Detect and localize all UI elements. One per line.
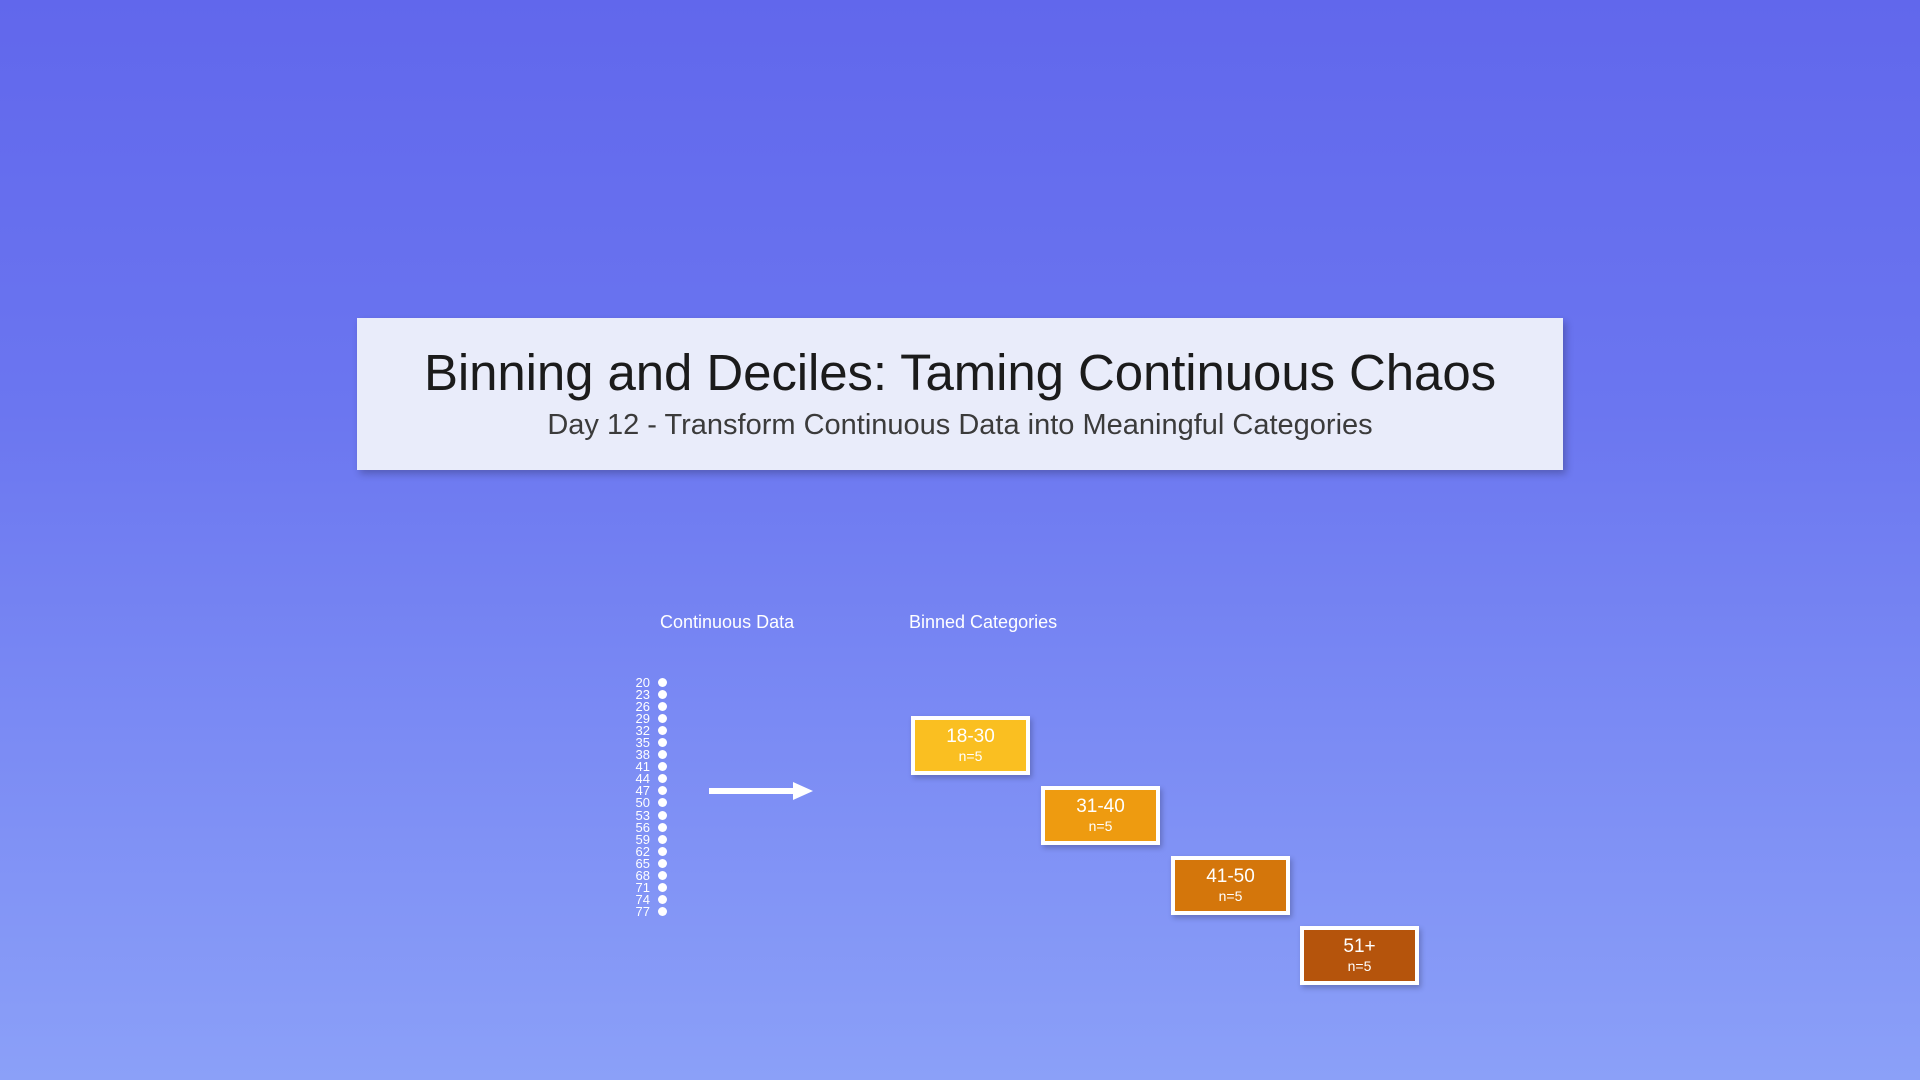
bin-box[interactable]: 41-50n=5 xyxy=(1171,856,1290,915)
data-point-dot-icon xyxy=(658,907,667,916)
continuous-value-label: 77 xyxy=(636,905,650,918)
slide-canvas: Binning and Deciles: Taming Continuous C… xyxy=(0,0,1920,1080)
bin-range-label: 51+ xyxy=(1343,937,1375,958)
transform-arrow-icon xyxy=(709,781,813,801)
data-point-dot-icon xyxy=(658,859,667,868)
data-point-dot-icon xyxy=(658,786,667,795)
continuous-data-list: 2023262932353841444750535659626568717477 xyxy=(608,676,688,918)
data-point-dot-icon xyxy=(658,750,667,759)
page-title: Binning and Deciles: Taming Continuous C… xyxy=(424,346,1496,400)
continuous-data-point: 77 xyxy=(608,906,688,918)
data-point-dot-icon xyxy=(658,871,667,880)
bin-box[interactable]: 31-40n=5 xyxy=(1041,786,1160,845)
title-card: Binning and Deciles: Taming Continuous C… xyxy=(357,318,1563,470)
bin-range-label: 18-30 xyxy=(946,727,995,748)
data-point-dot-icon xyxy=(658,762,667,771)
bin-range-label: 31-40 xyxy=(1076,797,1125,818)
continuous-data-heading: Continuous Data xyxy=(660,612,794,633)
bin-box[interactable]: 18-30n=5 xyxy=(911,716,1030,775)
data-point-dot-icon xyxy=(658,811,667,820)
data-point-dot-icon xyxy=(658,774,667,783)
data-point-dot-icon xyxy=(658,678,667,687)
data-point-dot-icon xyxy=(658,714,667,723)
data-point-dot-icon xyxy=(658,726,667,735)
binned-categories-heading: Binned Categories xyxy=(909,612,1057,633)
data-point-dot-icon xyxy=(658,847,667,856)
data-point-dot-icon xyxy=(658,835,667,844)
data-point-dot-icon xyxy=(658,798,667,807)
data-point-dot-icon xyxy=(658,823,667,832)
page-subtitle: Day 12 - Transform Continuous Data into … xyxy=(547,409,1372,442)
data-point-dot-icon xyxy=(658,738,667,747)
bin-box[interactable]: 51+n=5 xyxy=(1300,926,1419,985)
data-point-dot-icon xyxy=(658,690,667,699)
bin-count-label: n=5 xyxy=(1348,959,1372,974)
bin-count-label: n=5 xyxy=(959,749,983,764)
data-point-dot-icon xyxy=(658,895,667,904)
bin-count-label: n=5 xyxy=(1219,889,1243,904)
bin-range-label: 41-50 xyxy=(1206,867,1255,888)
data-point-dot-icon xyxy=(658,883,667,892)
data-point-dot-icon xyxy=(658,702,667,711)
bin-count-label: n=5 xyxy=(1089,819,1113,834)
